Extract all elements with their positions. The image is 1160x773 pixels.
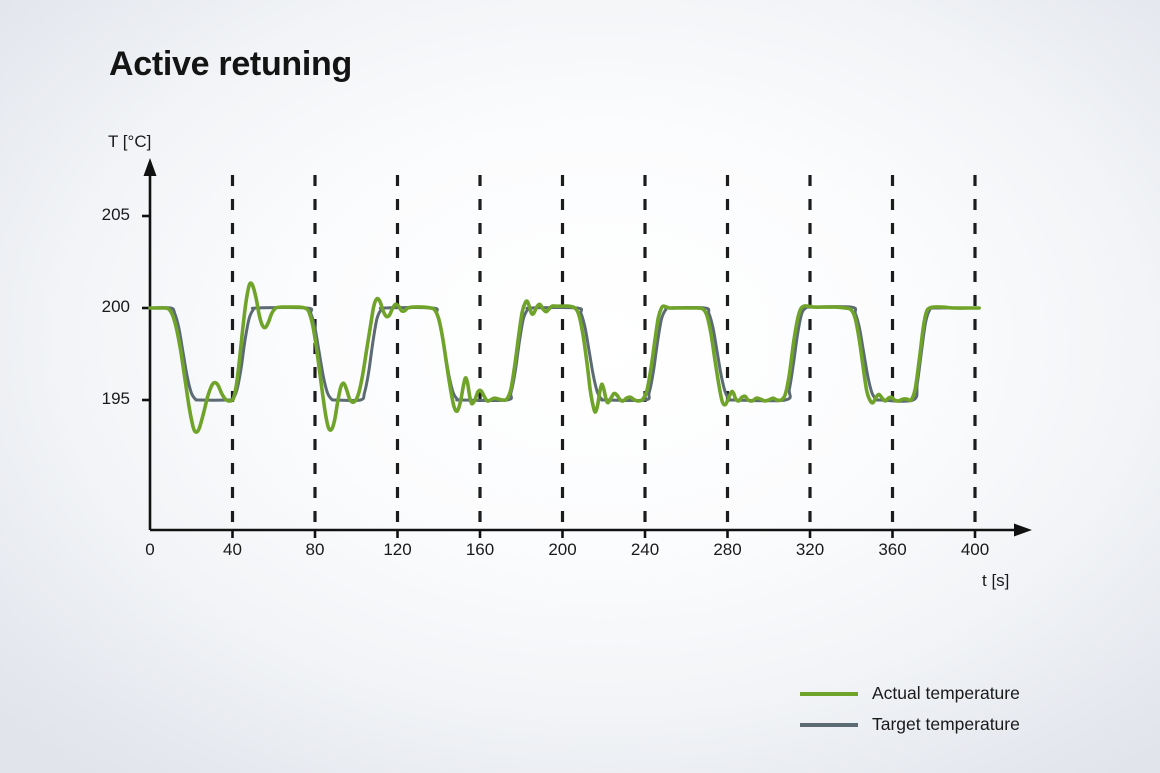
x-tick-label: 240	[620, 540, 670, 560]
legend-swatch-target-icon	[800, 723, 858, 727]
legend-swatch-actual-icon	[800, 692, 858, 696]
x-tick-label: 0	[125, 540, 175, 560]
legend-label-actual: Actual temperature	[872, 683, 1020, 704]
axis-ticks	[142, 216, 975, 538]
x-tick-label: 80	[290, 540, 340, 560]
x-tick-label: 320	[785, 540, 835, 560]
legend-item-target: Target temperature	[800, 709, 1020, 740]
chart-legend: Actual temperature Target temperature	[800, 678, 1020, 740]
series-actual-temperature	[150, 283, 979, 432]
x-tick-label: 280	[703, 540, 753, 560]
x-tick-label: 200	[538, 540, 588, 560]
x-tick-label: 40	[208, 540, 258, 560]
y-tick-label: 195	[84, 389, 130, 409]
legend-item-actual: Actual temperature	[800, 678, 1020, 709]
plot-area	[0, 0, 1160, 773]
y-tick-label: 200	[84, 297, 130, 317]
data-series	[150, 283, 979, 432]
x-tick-label: 160	[455, 540, 505, 560]
x-tick-label: 400	[950, 540, 1000, 560]
x-tick-label: 120	[373, 540, 423, 560]
chart-figure: Active retuning T [°C] t [s] 195200205 0…	[0, 0, 1160, 773]
y-tick-label: 205	[84, 205, 130, 225]
x-tick-label: 360	[868, 540, 918, 560]
legend-label-target: Target temperature	[872, 714, 1020, 735]
